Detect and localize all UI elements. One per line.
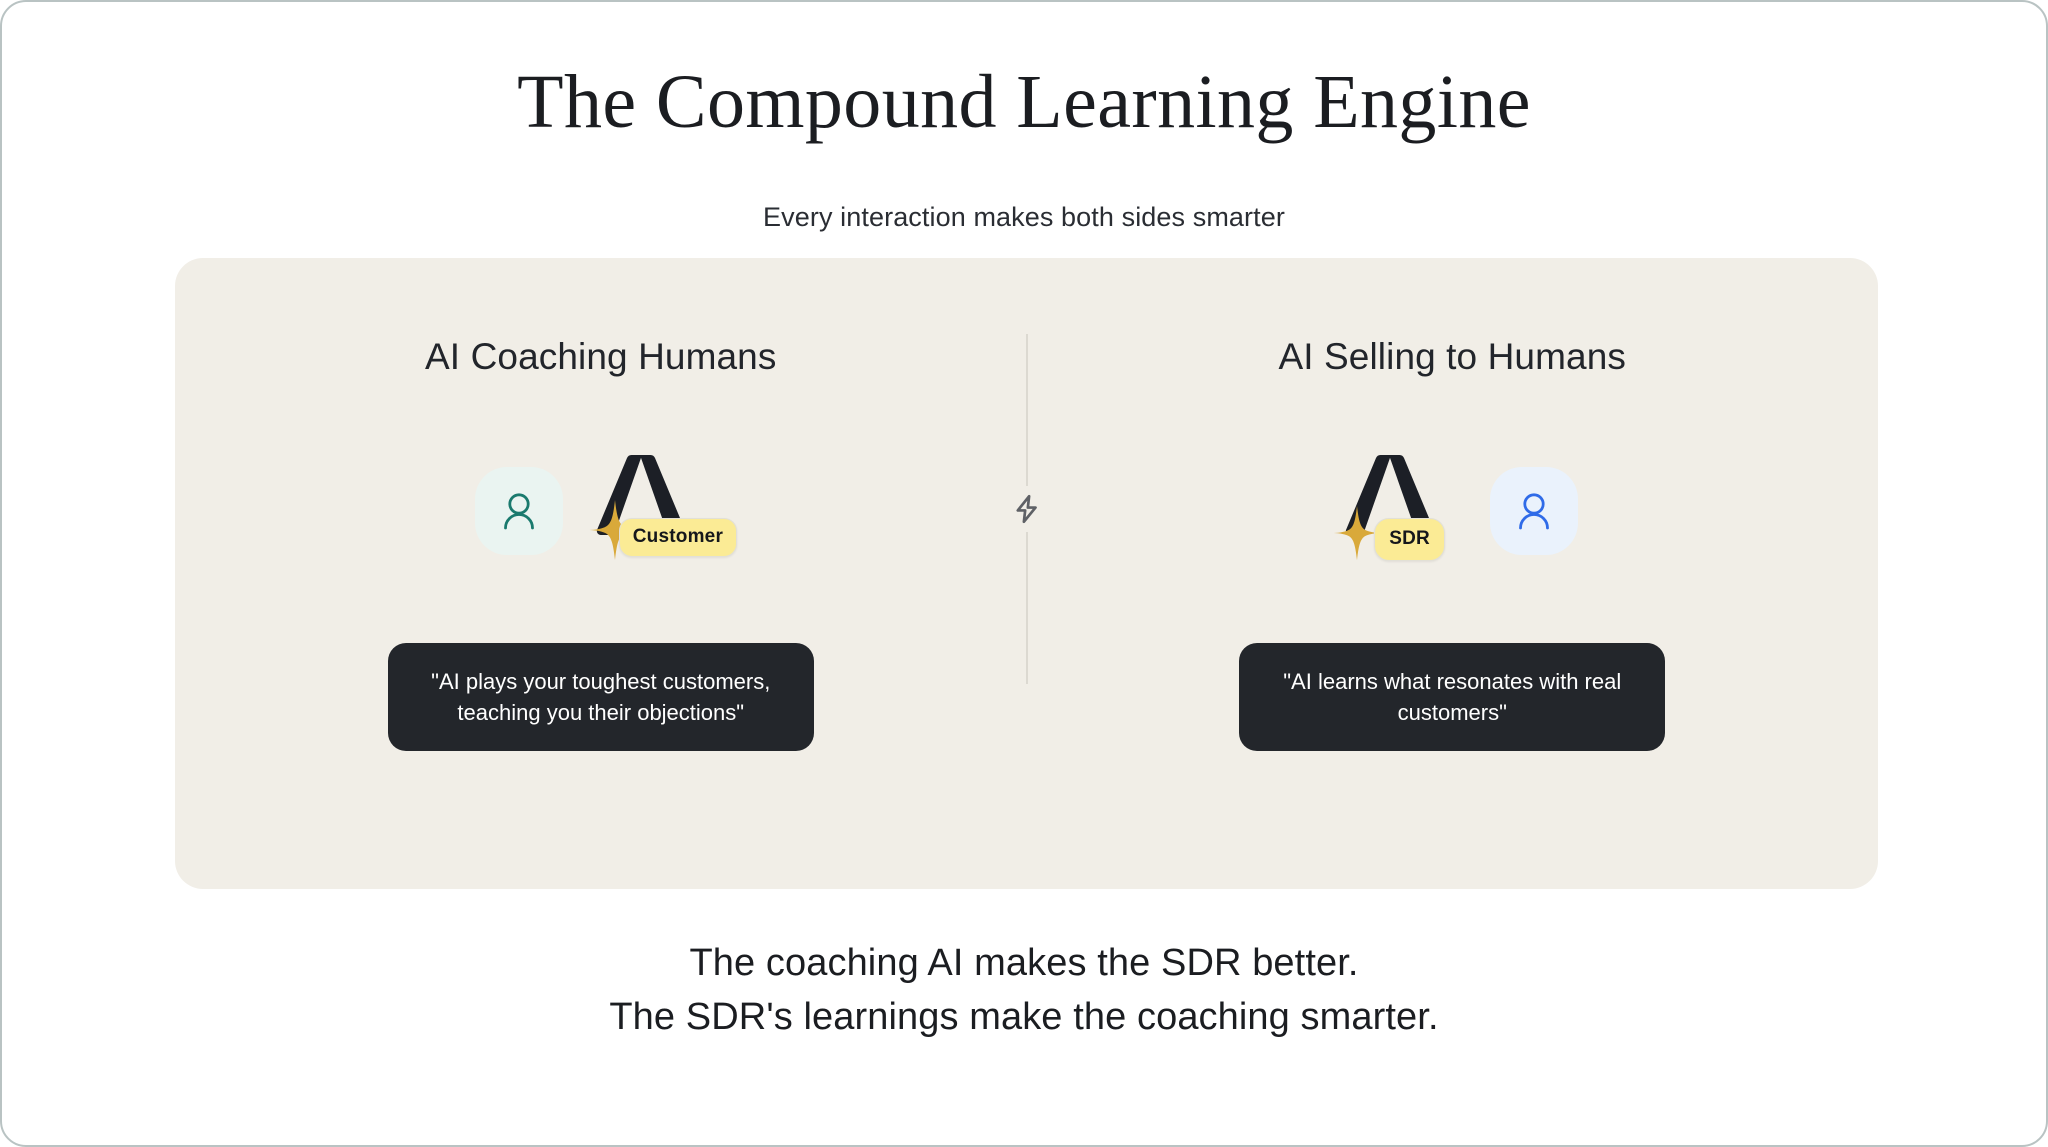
footer-line: The SDR's learnings make the coaching sm…	[2, 991, 2046, 1045]
person-icon	[496, 488, 542, 534]
column-heading: AI Coaching Humans	[175, 336, 1027, 378]
avatar	[475, 467, 563, 555]
quote-bubble: "AI learns what resonates with real cust…	[1239, 643, 1665, 751]
comparison-panel: AI Coaching Humans C	[175, 258, 1878, 889]
status-badge: SDR	[1374, 518, 1445, 561]
status-badge: Customer	[619, 518, 737, 557]
icon-cluster: SDR	[1027, 436, 1879, 586]
column-ai-selling-to-humans: AI Selling to Humans SDR	[1027, 258, 1879, 889]
page-title: The Compound Learning Engine	[2, 60, 2046, 145]
quote-bubble: "AI plays your toughest customers, teach…	[388, 643, 814, 751]
page-subtitle: Every interaction makes both sides smart…	[2, 202, 2046, 233]
avatar	[1490, 467, 1578, 555]
column-ai-coaching-humans: AI Coaching Humans C	[175, 258, 1027, 889]
footer-line: The coaching AI makes the SDR better.	[2, 937, 2046, 991]
icon-cluster: Customer	[175, 436, 1027, 586]
column-heading: AI Selling to Humans	[1027, 336, 1879, 378]
footer-summary: The coaching AI makes the SDR better. Th…	[2, 937, 2046, 1045]
person-icon	[1511, 488, 1557, 534]
slide-frame: The Compound Learning Engine Every inter…	[0, 0, 2048, 1147]
brand-logo-group: SDR	[1326, 452, 1476, 570]
brand-logo-group: Customer	[577, 452, 727, 570]
